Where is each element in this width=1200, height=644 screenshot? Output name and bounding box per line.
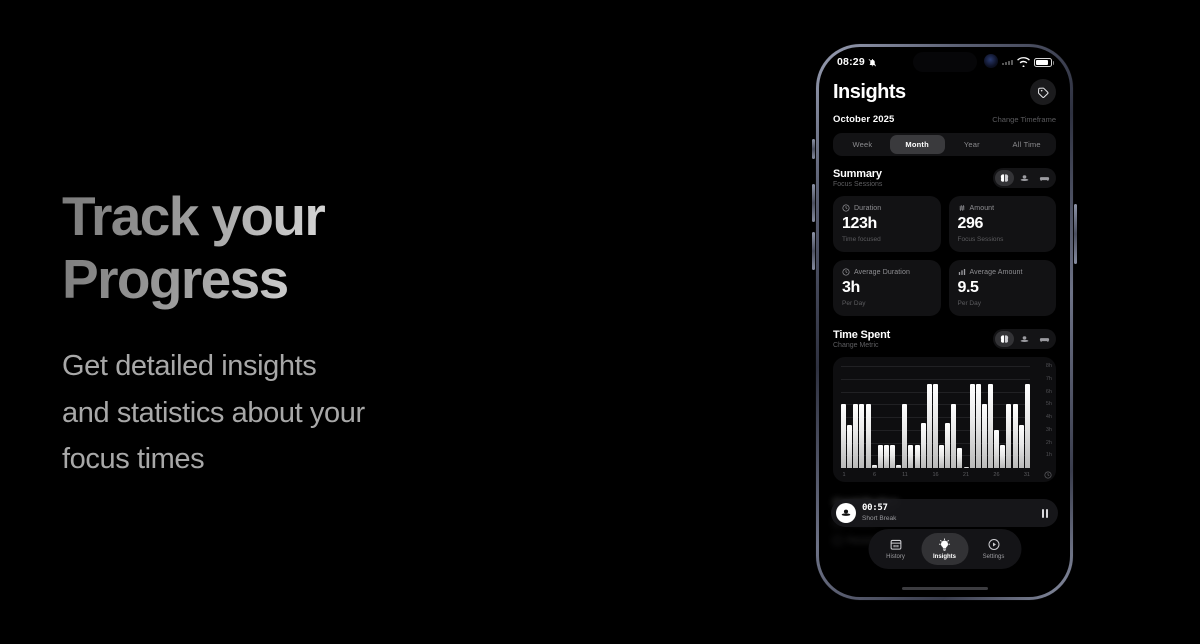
card-label: Average Amount bbox=[970, 269, 1023, 276]
lightbulb-icon bbox=[921, 537, 968, 552]
player-timer: 00:57 bbox=[862, 504, 896, 513]
card-label: Duration bbox=[854, 205, 881, 212]
short-break-mode-icon bbox=[1019, 334, 1030, 345]
current-month: October 2025 bbox=[833, 114, 894, 125]
chart-bar[interactable] bbox=[1025, 384, 1030, 468]
segment-week[interactable]: Week bbox=[835, 135, 890, 154]
chart-bar[interactable] bbox=[908, 445, 913, 468]
focus-mode-icon bbox=[999, 334, 1010, 345]
clock-icon bbox=[842, 268, 850, 276]
summary-short-break-mode-button[interactable] bbox=[1015, 170, 1034, 186]
chart-bar[interactable] bbox=[982, 404, 987, 468]
chart-bar[interactable] bbox=[976, 384, 981, 468]
change-timeframe-link[interactable]: Change Timeframe bbox=[992, 115, 1056, 124]
chart-bar[interactable] bbox=[1013, 404, 1018, 468]
short-break-mode-icon bbox=[1019, 173, 1030, 184]
chart-bar[interactable] bbox=[847, 425, 852, 468]
clock-icon bbox=[842, 204, 850, 212]
summary-header: Summary Focus Sessions bbox=[833, 168, 1056, 188]
chart-bar[interactable] bbox=[939, 445, 944, 468]
summary-title: Summary bbox=[833, 168, 882, 180]
tab-label: Settings bbox=[970, 554, 1017, 560]
chart-bars bbox=[841, 366, 1030, 468]
card-label: Amount bbox=[970, 205, 995, 212]
card-header: Average Amount bbox=[958, 268, 1048, 276]
tab-settings[interactable]: Settings bbox=[970, 533, 1017, 565]
status-indicators bbox=[1002, 57, 1052, 67]
chart-x-tick-label: 11 bbox=[902, 472, 908, 478]
time-spent-header: Time Spent Change Metric bbox=[833, 329, 1056, 349]
card-footer: Focus Sessions bbox=[958, 236, 1048, 243]
page-subtitle: Get detailed insights and statistics abo… bbox=[62, 343, 622, 482]
summary-card-average-duration[interactable]: Average Duration 3h Per Day bbox=[833, 260, 941, 316]
summary-card-amount[interactable]: Amount 296 Focus Sessions bbox=[949, 196, 1057, 252]
clock-icon bbox=[1044, 471, 1052, 479]
screen-title: Insights bbox=[833, 81, 906, 104]
tab-label: History bbox=[872, 554, 919, 560]
bell-slash-icon bbox=[868, 58, 877, 67]
card-header: Amount bbox=[958, 204, 1048, 212]
chart-x-tick-label: 26 bbox=[993, 472, 999, 478]
tag-icon bbox=[1037, 86, 1050, 99]
card-header: Average Duration bbox=[842, 268, 932, 276]
chart-bar[interactable] bbox=[890, 445, 895, 468]
chart-x-tick-label: 6 bbox=[873, 472, 876, 478]
segment-all-time[interactable]: All Time bbox=[999, 135, 1054, 154]
card-label: Average Duration bbox=[854, 269, 910, 276]
chart-bar[interactable] bbox=[841, 404, 846, 468]
chart-x-axis: 161116212631 bbox=[841, 472, 1030, 480]
signal-dots-icon bbox=[1002, 60, 1013, 65]
gear-play-icon bbox=[970, 537, 1017, 552]
time-spent-title-group: Time Spent Change Metric bbox=[833, 329, 890, 349]
chart-x-tick-label: 21 bbox=[963, 472, 969, 478]
short-break-avatar-icon bbox=[836, 503, 856, 523]
chart-x-tick-label: 16 bbox=[932, 472, 938, 478]
page-title: Track your Progress bbox=[62, 185, 622, 310]
timeframe-header: October 2025 Change Timeframe bbox=[833, 114, 1056, 125]
summary-cards: Duration 123h Time focused Amount 296 bbox=[833, 196, 1056, 316]
player-state: Short Break bbox=[862, 515, 896, 522]
chart-bar[interactable] bbox=[927, 384, 932, 468]
silent-switch[interactable] bbox=[812, 139, 815, 159]
chart-bar[interactable] bbox=[951, 404, 956, 468]
chart-bar[interactable] bbox=[970, 384, 975, 468]
volume-down-button[interactable] bbox=[812, 232, 815, 270]
summary-subtitle: Focus Sessions bbox=[833, 181, 882, 188]
chart-bar[interactable] bbox=[1000, 445, 1005, 468]
marketing-copy: Track your Progress Get detailed insight… bbox=[62, 185, 622, 483]
card-footer: Time focused bbox=[842, 236, 932, 243]
player-text: 00:57 Short Break bbox=[862, 504, 896, 521]
chart-short-break-mode-button[interactable] bbox=[1015, 331, 1034, 347]
long-break-mode-icon bbox=[1039, 173, 1050, 184]
time-spent-title: Time Spent bbox=[833, 329, 890, 341]
status-clock: 08:29 bbox=[837, 56, 865, 68]
chart-bar[interactable] bbox=[1019, 425, 1024, 468]
chart-bar[interactable] bbox=[853, 404, 858, 468]
card-value: 123h bbox=[842, 215, 932, 233]
chart-bar[interactable] bbox=[957, 448, 962, 468]
summary-mode-toggle[interactable] bbox=[993, 168, 1056, 188]
chart-bar[interactable] bbox=[896, 465, 901, 468]
front-camera-icon bbox=[984, 54, 998, 68]
battery-icon bbox=[1034, 58, 1052, 67]
power-button[interactable] bbox=[1074, 204, 1077, 264]
segment-year[interactable]: Year bbox=[945, 135, 1000, 154]
card-value: 296 bbox=[958, 215, 1048, 233]
time-spent-chart[interactable]: 8h7h6h5h4h3h2h1h 161116212631 bbox=[833, 357, 1056, 482]
phone-mockup: 08:29 bbox=[816, 44, 1073, 600]
chart-y-tick-label: 5h bbox=[1046, 401, 1052, 407]
segment-month[interactable]: Month bbox=[890, 135, 945, 154]
chart-bar[interactable] bbox=[915, 445, 920, 468]
chart-bar[interactable] bbox=[1006, 404, 1011, 468]
volume-up-button[interactable] bbox=[812, 184, 815, 222]
chart-bar[interactable] bbox=[902, 404, 907, 468]
pause-button[interactable] bbox=[1042, 509, 1053, 518]
promo-slide: Track your Progress Get detailed insight… bbox=[0, 0, 1200, 644]
chart-focus-mode-button[interactable] bbox=[995, 331, 1014, 347]
time-spent-subtitle[interactable]: Change Metric bbox=[833, 342, 890, 349]
chart-bar[interactable] bbox=[859, 404, 864, 468]
bars-icon bbox=[958, 268, 966, 276]
chart-bar[interactable] bbox=[921, 423, 926, 468]
chart-bar[interactable] bbox=[945, 423, 950, 468]
status-bar: 08:29 bbox=[819, 47, 1070, 77]
card-header: Duration bbox=[842, 204, 932, 212]
summary-card-average-amount[interactable]: Average Amount 9.5 Per Day bbox=[949, 260, 1057, 316]
chart-bar[interactable] bbox=[866, 404, 871, 468]
summary-long-break-mode-button[interactable] bbox=[1035, 170, 1054, 186]
summary-focus-mode-button[interactable] bbox=[995, 170, 1014, 186]
dynamic-island bbox=[913, 52, 977, 72]
wifi-icon bbox=[1017, 57, 1030, 67]
chart-x-tick-label: 1 bbox=[843, 472, 846, 478]
status-time-group: 08:29 bbox=[837, 56, 877, 68]
bottom-tab-bar[interactable]: History Insights bbox=[868, 529, 1021, 569]
app-header: Insights bbox=[833, 79, 1056, 105]
card-footer: Per Day bbox=[958, 300, 1048, 307]
chart-bar[interactable] bbox=[933, 384, 938, 468]
long-break-mode-icon bbox=[1039, 334, 1050, 345]
calendar-icon bbox=[872, 537, 919, 552]
chart-y-tick-label: 3h bbox=[1046, 427, 1052, 433]
card-footer: Per Day bbox=[842, 300, 932, 307]
chart-plot-area: 8h7h6h5h4h3h2h1h bbox=[841, 366, 1030, 468]
card-value: 9.5 bbox=[958, 279, 1048, 297]
chart-bar[interactable] bbox=[884, 445, 889, 468]
chart-bar[interactable] bbox=[872, 465, 877, 468]
tag-button[interactable] bbox=[1030, 79, 1056, 105]
tab-history[interactable]: History bbox=[872, 533, 919, 565]
card-value: 3h bbox=[842, 279, 932, 297]
chart-y-tick-label: 6h bbox=[1046, 389, 1052, 395]
focus-mode-icon bbox=[999, 173, 1010, 184]
chart-long-break-mode-button[interactable] bbox=[1035, 331, 1054, 347]
summary-title-group: Summary Focus Sessions bbox=[833, 168, 882, 188]
chart-y-tick-label: 1h bbox=[1046, 452, 1052, 458]
chart-y-tick-label: 4h bbox=[1046, 414, 1052, 420]
home-icon bbox=[833, 536, 842, 545]
tab-insights[interactable]: Insights bbox=[921, 533, 968, 565]
timeframe-segmented-control[interactable]: Week Month Year All Time bbox=[833, 133, 1056, 156]
chart-y-tick-label: 8h bbox=[1046, 363, 1052, 369]
chart-y-tick-label: 7h bbox=[1046, 376, 1052, 382]
phone-screen: 08:29 bbox=[819, 47, 1070, 597]
hash-icon bbox=[958, 204, 966, 212]
chart-bar[interactable] bbox=[964, 467, 969, 468]
time-spent-mode-toggle[interactable] bbox=[993, 329, 1056, 349]
chart-bar[interactable] bbox=[994, 430, 999, 468]
chart-bar[interactable] bbox=[878, 445, 883, 468]
chart-y-tick-label: 2h bbox=[1046, 440, 1052, 446]
home-indicator[interactable] bbox=[902, 587, 988, 591]
summary-card-duration[interactable]: Duration 123h Time focused bbox=[833, 196, 941, 252]
tab-label: Insights bbox=[921, 554, 968, 560]
chart-x-tick-label: 31 bbox=[1024, 472, 1030, 478]
mini-player[interactable]: 00:57 Short Break bbox=[831, 499, 1058, 527]
chart-bar[interactable] bbox=[988, 384, 993, 468]
